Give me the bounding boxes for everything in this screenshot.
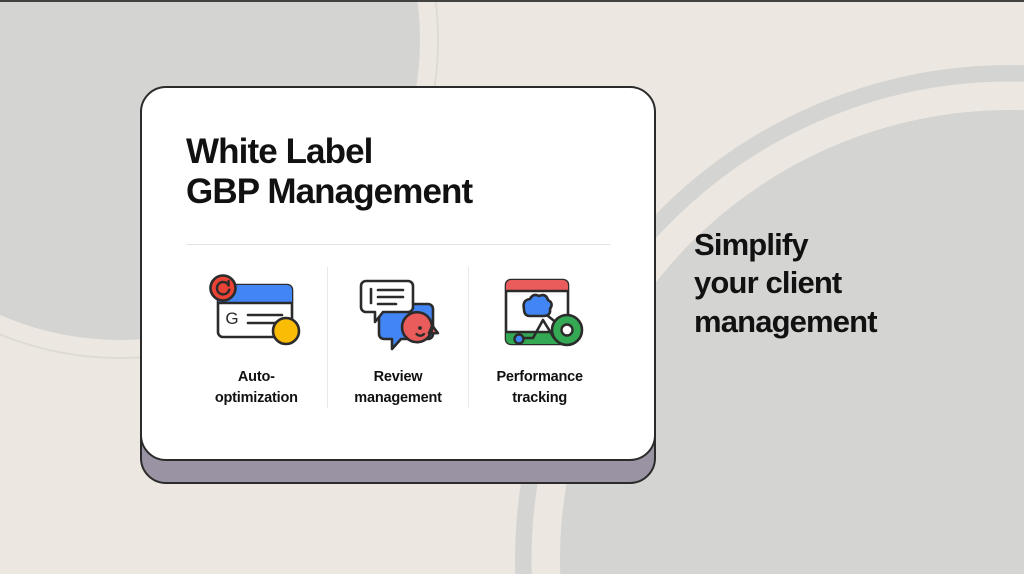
top-edge-rule	[0, 0, 1024, 2]
feature-item-auto-optimization[interactable]: G Auto- optimization	[186, 267, 327, 408]
chat-bubbles-review-icon	[346, 272, 450, 358]
card-surface: White Label GBP Management G	[140, 86, 656, 461]
feature-item-performance-tracking[interactable]: Performance tracking	[468, 267, 610, 408]
svg-text:G: G	[226, 309, 239, 328]
feature-card: White Label GBP Management G	[140, 86, 656, 484]
feature-label-review-management: Review management	[354, 367, 441, 408]
auto-optimization-icon-wrap: G	[204, 267, 308, 363]
card-divider	[186, 244, 610, 245]
feature-label-auto-optimization: Auto- optimization	[215, 367, 298, 408]
side-headline: Simplify your client management	[694, 226, 994, 341]
performance-tracking-icon-wrap	[488, 267, 592, 363]
feature-list: G Auto- optimization	[186, 267, 610, 408]
performance-dashboard-chart-icon	[488, 272, 592, 358]
feature-label-performance-tracking: Performance tracking	[496, 367, 582, 408]
feature-item-review-management[interactable]: Review management	[327, 267, 469, 408]
card-title: White Label GBP Management	[186, 132, 610, 211]
review-management-icon-wrap	[346, 267, 450, 363]
google-business-profile-refresh-icon: G	[204, 272, 308, 358]
